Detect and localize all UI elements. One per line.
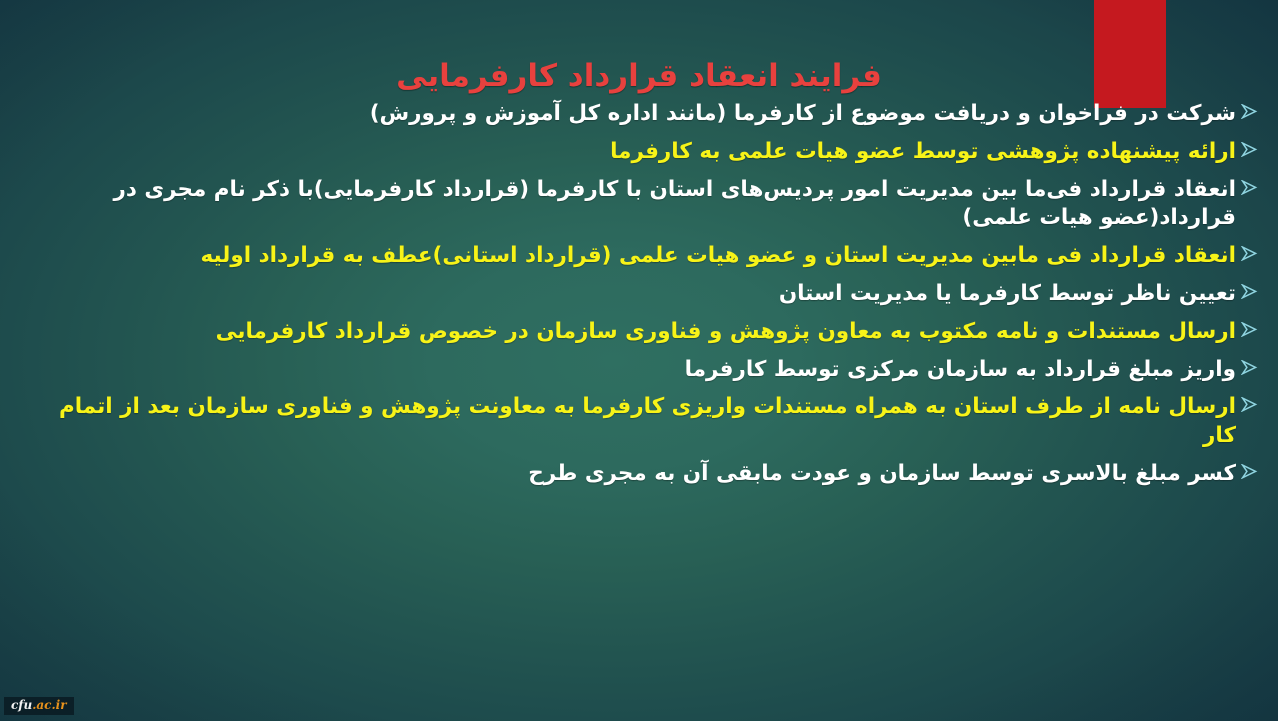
presentation-slide: فرایند انعقاد قرارداد کارفرمایی شرکت در … (0, 0, 1278, 721)
bullet-text: واریز مبلغ قرارداد به سازمان مرکزی توسط … (16, 356, 1236, 385)
bullet-item: ارسال نامه از طرف استان به همراه مستندات… (16, 393, 1262, 451)
bullet-item: کسر مبلغ بالاسری توسط سازمان و عودت مابق… (16, 460, 1262, 489)
bullet-item: تعیین ناظر توسط کارفرما یا مدیریت استان (16, 280, 1262, 309)
bullet-item: شرکت در فراخوان و دریافت موضوع از کارفرم… (16, 100, 1262, 129)
bullet-item: واریز مبلغ قرارداد به سازمان مرکزی توسط … (16, 356, 1262, 385)
arrow-right-icon (1236, 397, 1262, 412)
watermark-domain: .ac.ir (32, 698, 66, 712)
arrow-right-icon (1236, 142, 1262, 157)
slide-title: فرایند انعقاد قرارداد کارفرمایی (0, 57, 1278, 96)
arrow-right-icon (1236, 246, 1262, 261)
bullet-text: کسر مبلغ بالاسری توسط سازمان و عودت مابق… (16, 460, 1236, 489)
bullet-text: ارسال مستندات و نامه مکتوب به معاون پژوه… (16, 318, 1236, 347)
bullet-text: تعیین ناظر توسط کارفرما یا مدیریت استان (16, 280, 1236, 309)
bullet-list: شرکت در فراخوان و دریافت موضوع از کارفرم… (16, 100, 1262, 498)
arrow-right-icon (1236, 464, 1262, 479)
bullet-text: ارائه پیشنهاده پژوهشی توسط عضو هیات علمی… (16, 138, 1236, 167)
bullet-text: شرکت در فراخوان و دریافت موضوع از کارفرم… (16, 100, 1236, 129)
arrow-right-icon (1236, 180, 1262, 195)
bullet-text: انعقاد قرارداد فی‌ما بین مدیریت امور پرد… (16, 176, 1236, 234)
watermark-name: cfu (11, 698, 32, 712)
arrow-right-icon (1236, 284, 1262, 299)
arrow-right-icon (1236, 360, 1262, 375)
bullet-text: انعقاد قرارداد فی مابین مدیریت استان و ع… (16, 242, 1236, 271)
arrow-right-icon (1236, 322, 1262, 337)
arrow-right-icon (1236, 104, 1262, 119)
bullet-item: انعقاد قرارداد فی مابین مدیریت استان و ع… (16, 242, 1262, 271)
bullet-text: ارسال نامه از طرف استان به همراه مستندات… (16, 393, 1236, 451)
site-watermark: cfu.ac.ir (4, 697, 74, 715)
bullet-item: ارسال مستندات و نامه مکتوب به معاون پژوه… (16, 318, 1262, 347)
bullet-item: ارائه پیشنهاده پژوهشی توسط عضو هیات علمی… (16, 138, 1262, 167)
bullet-item: انعقاد قرارداد فی‌ما بین مدیریت امور پرد… (16, 176, 1262, 234)
